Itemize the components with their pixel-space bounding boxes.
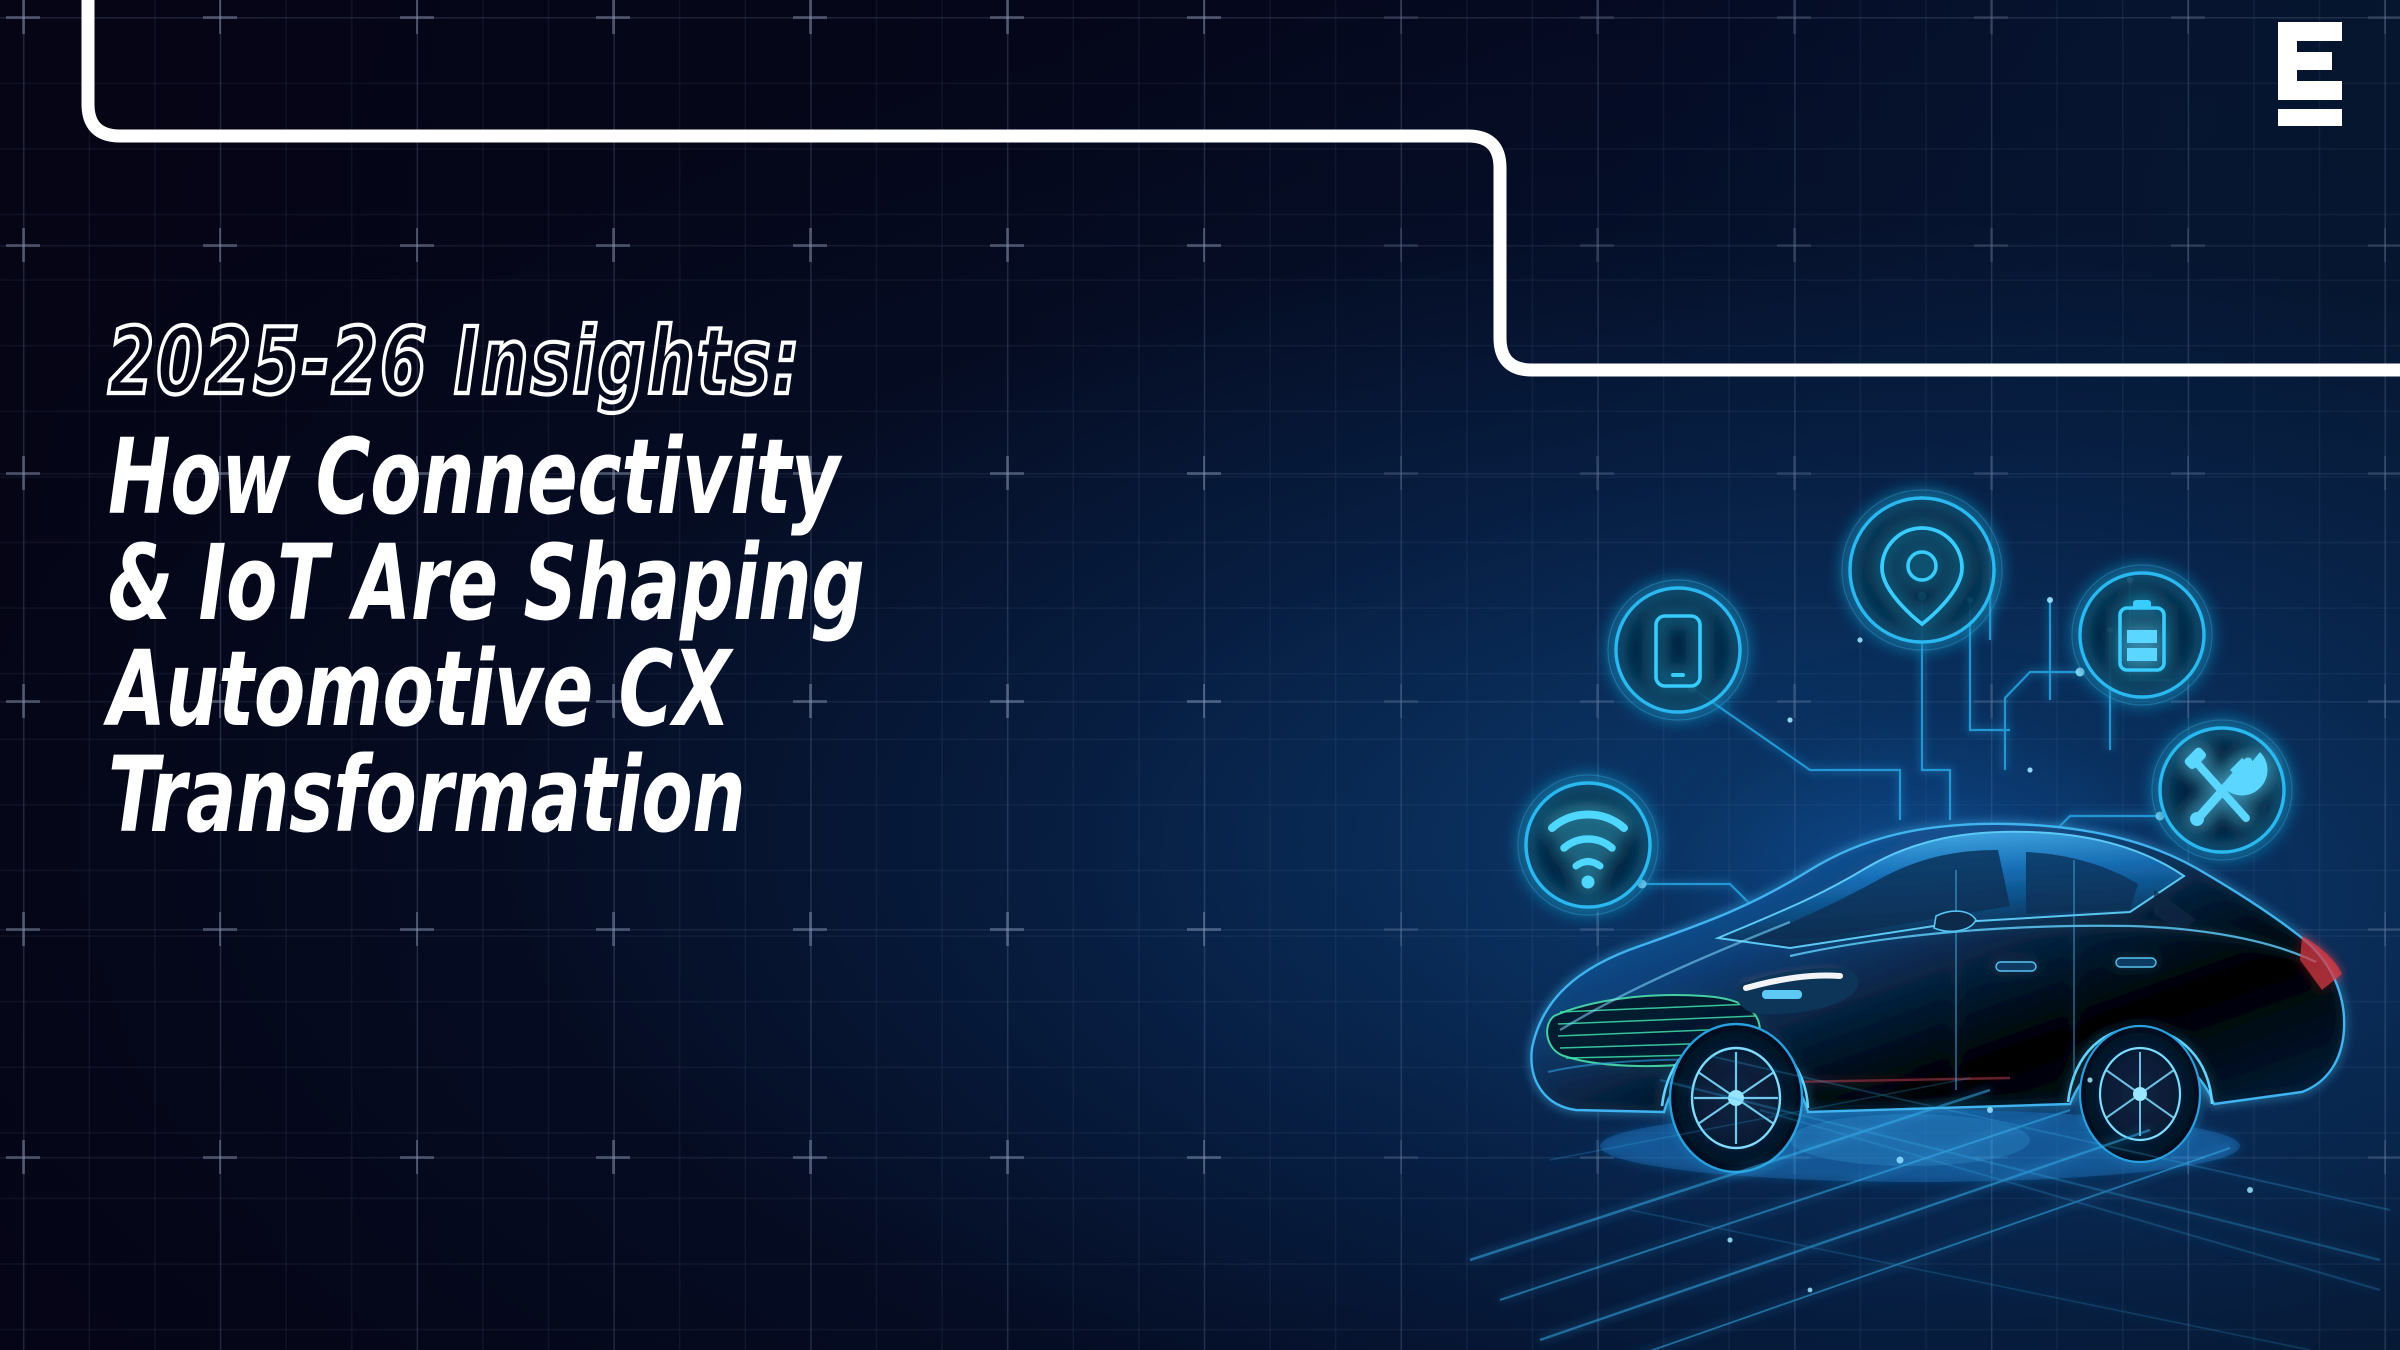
grid-crosshair-icon xyxy=(1384,912,1418,946)
grid-crosshair-icon xyxy=(1187,1140,1221,1174)
grid-crosshair-icon xyxy=(793,1140,827,1174)
wifi-icon xyxy=(1518,775,1658,915)
grid-crosshair-icon xyxy=(596,912,630,946)
tools-icon xyxy=(2152,720,2292,860)
grid-crosshair-icon xyxy=(990,912,1024,946)
logo-e-icon xyxy=(2278,22,2342,100)
grid-crosshair-icon xyxy=(6,456,40,490)
connected-car-illustration xyxy=(1430,300,2400,1350)
grid-crosshair-icon xyxy=(6,1140,40,1174)
headline-line-2: & IoT Are Shaping xyxy=(108,534,1164,634)
smartphone-icon xyxy=(1608,580,1748,720)
grid-crosshair-icon xyxy=(400,912,434,946)
grid-crosshair-icon xyxy=(6,684,40,718)
logo-underbar-icon xyxy=(2278,109,2342,126)
grid-crosshair-icon xyxy=(1187,912,1221,946)
brand-logo[interactable]: E xyxy=(2278,22,2342,126)
grid-crosshair-icon xyxy=(1384,1140,1418,1174)
icon-nodes xyxy=(1430,300,2400,1350)
grid-crosshair-icon xyxy=(6,912,40,946)
headline-block: 2025-26 Insights: How Connectivity & IoT… xyxy=(108,318,1428,852)
headline-line-3: Automotive CX xyxy=(108,640,1164,740)
grid-crosshair-icon xyxy=(400,1140,434,1174)
grid-crosshair-icon xyxy=(203,1140,237,1174)
location-pin-icon xyxy=(1842,490,2002,650)
grid-crosshair-icon xyxy=(990,1140,1024,1174)
headline-line-4: Transformation xyxy=(108,746,1164,846)
grid-crosshair-icon xyxy=(793,912,827,946)
battery-icon xyxy=(2072,565,2212,705)
grid-crosshair-icon xyxy=(203,912,237,946)
banner-canvas: E 2025-26 Insights: How Connectivity & I… xyxy=(0,0,2400,1350)
grid-crosshair-icon xyxy=(596,1140,630,1174)
headline-line-1: How Connectivity xyxy=(108,428,1164,528)
headline-eyebrow: 2025-26 Insights: xyxy=(108,318,1164,406)
